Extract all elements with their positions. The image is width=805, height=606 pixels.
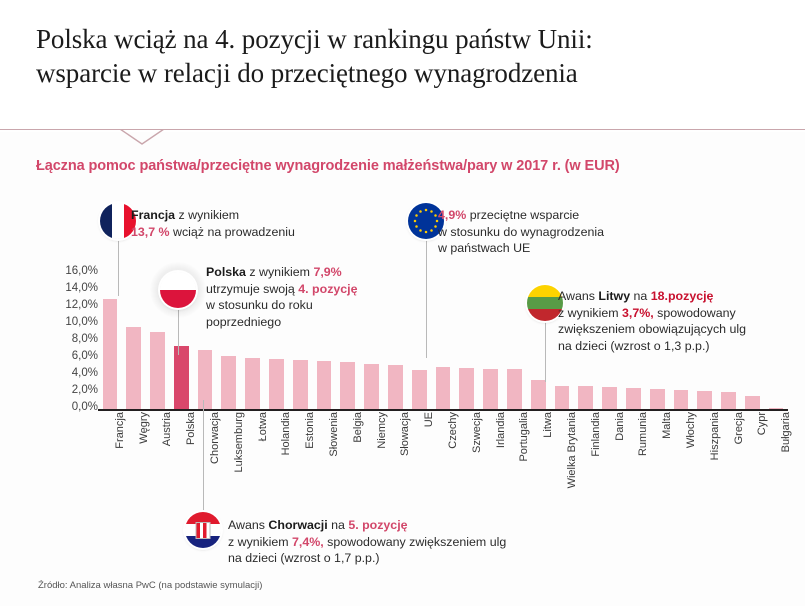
x-tick-label: Polska	[185, 412, 197, 445]
bar-włochy	[674, 390, 689, 410]
callout-chorwacja-value: 7,4%,	[292, 535, 324, 549]
bar-słowacja	[388, 365, 403, 410]
bar-szwecja	[459, 368, 474, 410]
x-axis-labels: FrancjaWęgryAustriaPolskaChorwacjaLuksem…	[98, 412, 788, 507]
callout-litwa-l1pre: Awans	[558, 289, 598, 303]
bar-finlandia	[578, 386, 593, 410]
callout-chorwacja-l1pre: Awans	[228, 518, 268, 532]
x-tick-label: Czechy	[447, 412, 459, 449]
callout-polska-rank: 4. pozycję	[298, 282, 357, 296]
x-axis-line	[98, 409, 788, 411]
callout-chorwacja-country: Chorwacji	[268, 518, 327, 532]
callout-litwa-country: Litwy	[598, 289, 630, 303]
y-tick-label: 10,0%	[36, 317, 98, 328]
bar-łotwa	[245, 358, 260, 410]
callout-litwa-value: 3,7%,	[622, 306, 654, 320]
callout-chorwacja-l1mid: na	[328, 518, 349, 532]
callout-chorwacja-l2pre: z wynikiem	[228, 535, 292, 549]
chorwacja-leader-line	[203, 400, 204, 512]
bar-węgry	[126, 327, 141, 410]
bar-cypr	[745, 396, 760, 410]
callout-francja-l2rest: wciąż na prowadzeniu	[170, 225, 295, 239]
x-tick-label: Bułgaria	[780, 412, 792, 452]
x-tick-label: Estonia	[304, 412, 316, 449]
callout-chorwacja-l3: na dzieci (wzrost o 1,7 p.p.)	[228, 550, 588, 567]
bar-wielka-brytania	[555, 386, 570, 410]
callout-litwa-l2pre: z wynikiem	[558, 306, 622, 320]
callout-polska-l1mid: z wynikiem	[246, 265, 313, 279]
x-tick-label: Luksemburg	[233, 412, 245, 473]
x-tick-label: Niemcy	[376, 412, 388, 449]
x-tick-label: Rumunia	[637, 412, 649, 456]
callout-litwa-l1mid: na	[630, 289, 651, 303]
francja-leader-line	[118, 238, 119, 296]
x-tick-label: Austria	[161, 412, 173, 446]
x-tick-label: Francja	[114, 412, 126, 449]
x-tick-label: Malta	[661, 412, 673, 439]
callout-ue-l1rest: przeciętne wsparcie	[466, 208, 579, 222]
callout-polska-value: 7,9%	[313, 265, 341, 279]
callout-ue-l3: w państwach UE	[438, 240, 648, 257]
callout-francja-country: Francja	[131, 208, 175, 222]
callout-francja-l1rest: z wynikiem	[175, 208, 239, 222]
x-tick-label: Cypr	[756, 412, 768, 435]
bar-niemcy	[364, 364, 379, 410]
callout-litwa-l4: na dzieci (wzrost o 1,3 p.p.)	[558, 338, 794, 355]
callout-litwa: Awans Litwy na 18.pozycję z wynikiem 3,7…	[558, 288, 794, 354]
callout-chorwacja-rank: 5. pozycję	[348, 518, 407, 532]
y-tick-label: 2,0%	[36, 385, 98, 396]
bar-ue	[412, 370, 427, 410]
callout-ue-value: 4,9%	[438, 208, 466, 222]
bar-chorwacja	[198, 350, 213, 410]
x-tick-label: Grecja	[733, 412, 745, 444]
callout-litwa-rank: 18.pozycję	[651, 289, 714, 303]
bar-malta	[650, 389, 665, 410]
bar-belgia	[340, 362, 355, 410]
y-axis: 16,0% 14,0% 12,0% 10,0% 8,0% 6,0% 4,0% 2…	[36, 266, 98, 418]
bar-luksemburg	[221, 356, 236, 410]
x-tick-label: Słowenia	[328, 412, 340, 457]
callout-francja: Francja z wynikiem 13,7 % wciąż na prowa…	[131, 207, 381, 240]
callout-francja-value: 13,7 %	[131, 225, 170, 239]
y-tick-label: 8,0%	[36, 334, 98, 345]
bar-francja	[103, 299, 118, 410]
x-tick-label: Dania	[614, 412, 626, 441]
bar-czechy	[436, 367, 451, 410]
bar-rumunia	[626, 388, 641, 410]
x-tick-label: Hiszpania	[709, 412, 721, 460]
x-tick-label: Słowacja	[399, 412, 411, 456]
bar-litwa	[531, 380, 546, 410]
x-tick-label: Szwecja	[471, 412, 483, 453]
croatia-flag-icon	[185, 512, 221, 548]
callout-polska: Polska z wynikiem 7,9% utrzymuje swoją 4…	[206, 264, 411, 330]
bar-polska	[174, 346, 189, 410]
bar-estonia	[293, 360, 308, 410]
callout-ue-l2: w stosunku do wynagrodzenia	[438, 224, 648, 241]
y-tick-label: 6,0%	[36, 351, 98, 362]
x-tick-label: Belgia	[352, 412, 364, 443]
x-tick-label: Włochy	[685, 412, 697, 448]
poland-flag-icon	[160, 272, 196, 308]
y-tick-label: 0,0%	[36, 402, 98, 413]
callout-polska-l3: w stosunku do roku	[206, 297, 411, 314]
bar-holandia	[269, 359, 284, 410]
infographic-root: Polska wciąż na 4. pozycji w rankingu pa…	[0, 0, 805, 606]
callout-chorwacja-l2rest: spowodowany zwiększeniem ulg	[324, 535, 507, 549]
callout-litwa-l3: zwiększeniem obowiązujących ulg	[558, 321, 794, 338]
x-tick-label: Portugalia	[518, 412, 530, 462]
x-tick-label: Litwa	[542, 412, 554, 438]
y-tick-label: 16,0%	[36, 266, 98, 277]
ue-leader-line	[426, 238, 427, 358]
bar-irlandia	[483, 369, 498, 410]
litwa-leader-line	[545, 320, 546, 382]
callout-chorwacja: Awans Chorwacji na 5. pozycję z wynikiem…	[228, 517, 588, 567]
x-tick-label: Węgry	[138, 412, 150, 444]
x-tick-label: UE	[423, 412, 435, 427]
y-tick-label: 4,0%	[36, 368, 98, 379]
bar-dania	[602, 387, 617, 410]
callout-polska-country: Polska	[206, 265, 246, 279]
bar-grecja	[721, 392, 736, 410]
callout-polska-l4: poprzedniego	[206, 314, 411, 331]
x-tick-label: Wielka Brytania	[566, 412, 578, 488]
x-tick-label: Łotwa	[257, 412, 269, 441]
y-tick-label: 14,0%	[36, 283, 98, 294]
x-tick-label: Irlandia	[495, 412, 507, 448]
bar-portugalia	[507, 369, 522, 410]
x-tick-label: Chorwacja	[209, 412, 221, 464]
x-tick-label: Holandia	[280, 412, 292, 455]
y-tick-label: 12,0%	[36, 300, 98, 311]
source-note: Źródło: Analiza własna PwC (na podstawie…	[38, 580, 262, 591]
callout-polska-l2pre: utrzymuje swoją	[206, 282, 298, 296]
x-tick-label: Finlandia	[590, 412, 602, 457]
bar-słowenia	[317, 361, 332, 410]
callout-litwa-l2rest: spowodowany	[654, 306, 736, 320]
callout-ue: 4,9% przeciętne wsparcie w stosunku do w…	[438, 207, 648, 257]
bar-hiszpania	[697, 391, 712, 411]
bar-austria	[150, 332, 165, 410]
